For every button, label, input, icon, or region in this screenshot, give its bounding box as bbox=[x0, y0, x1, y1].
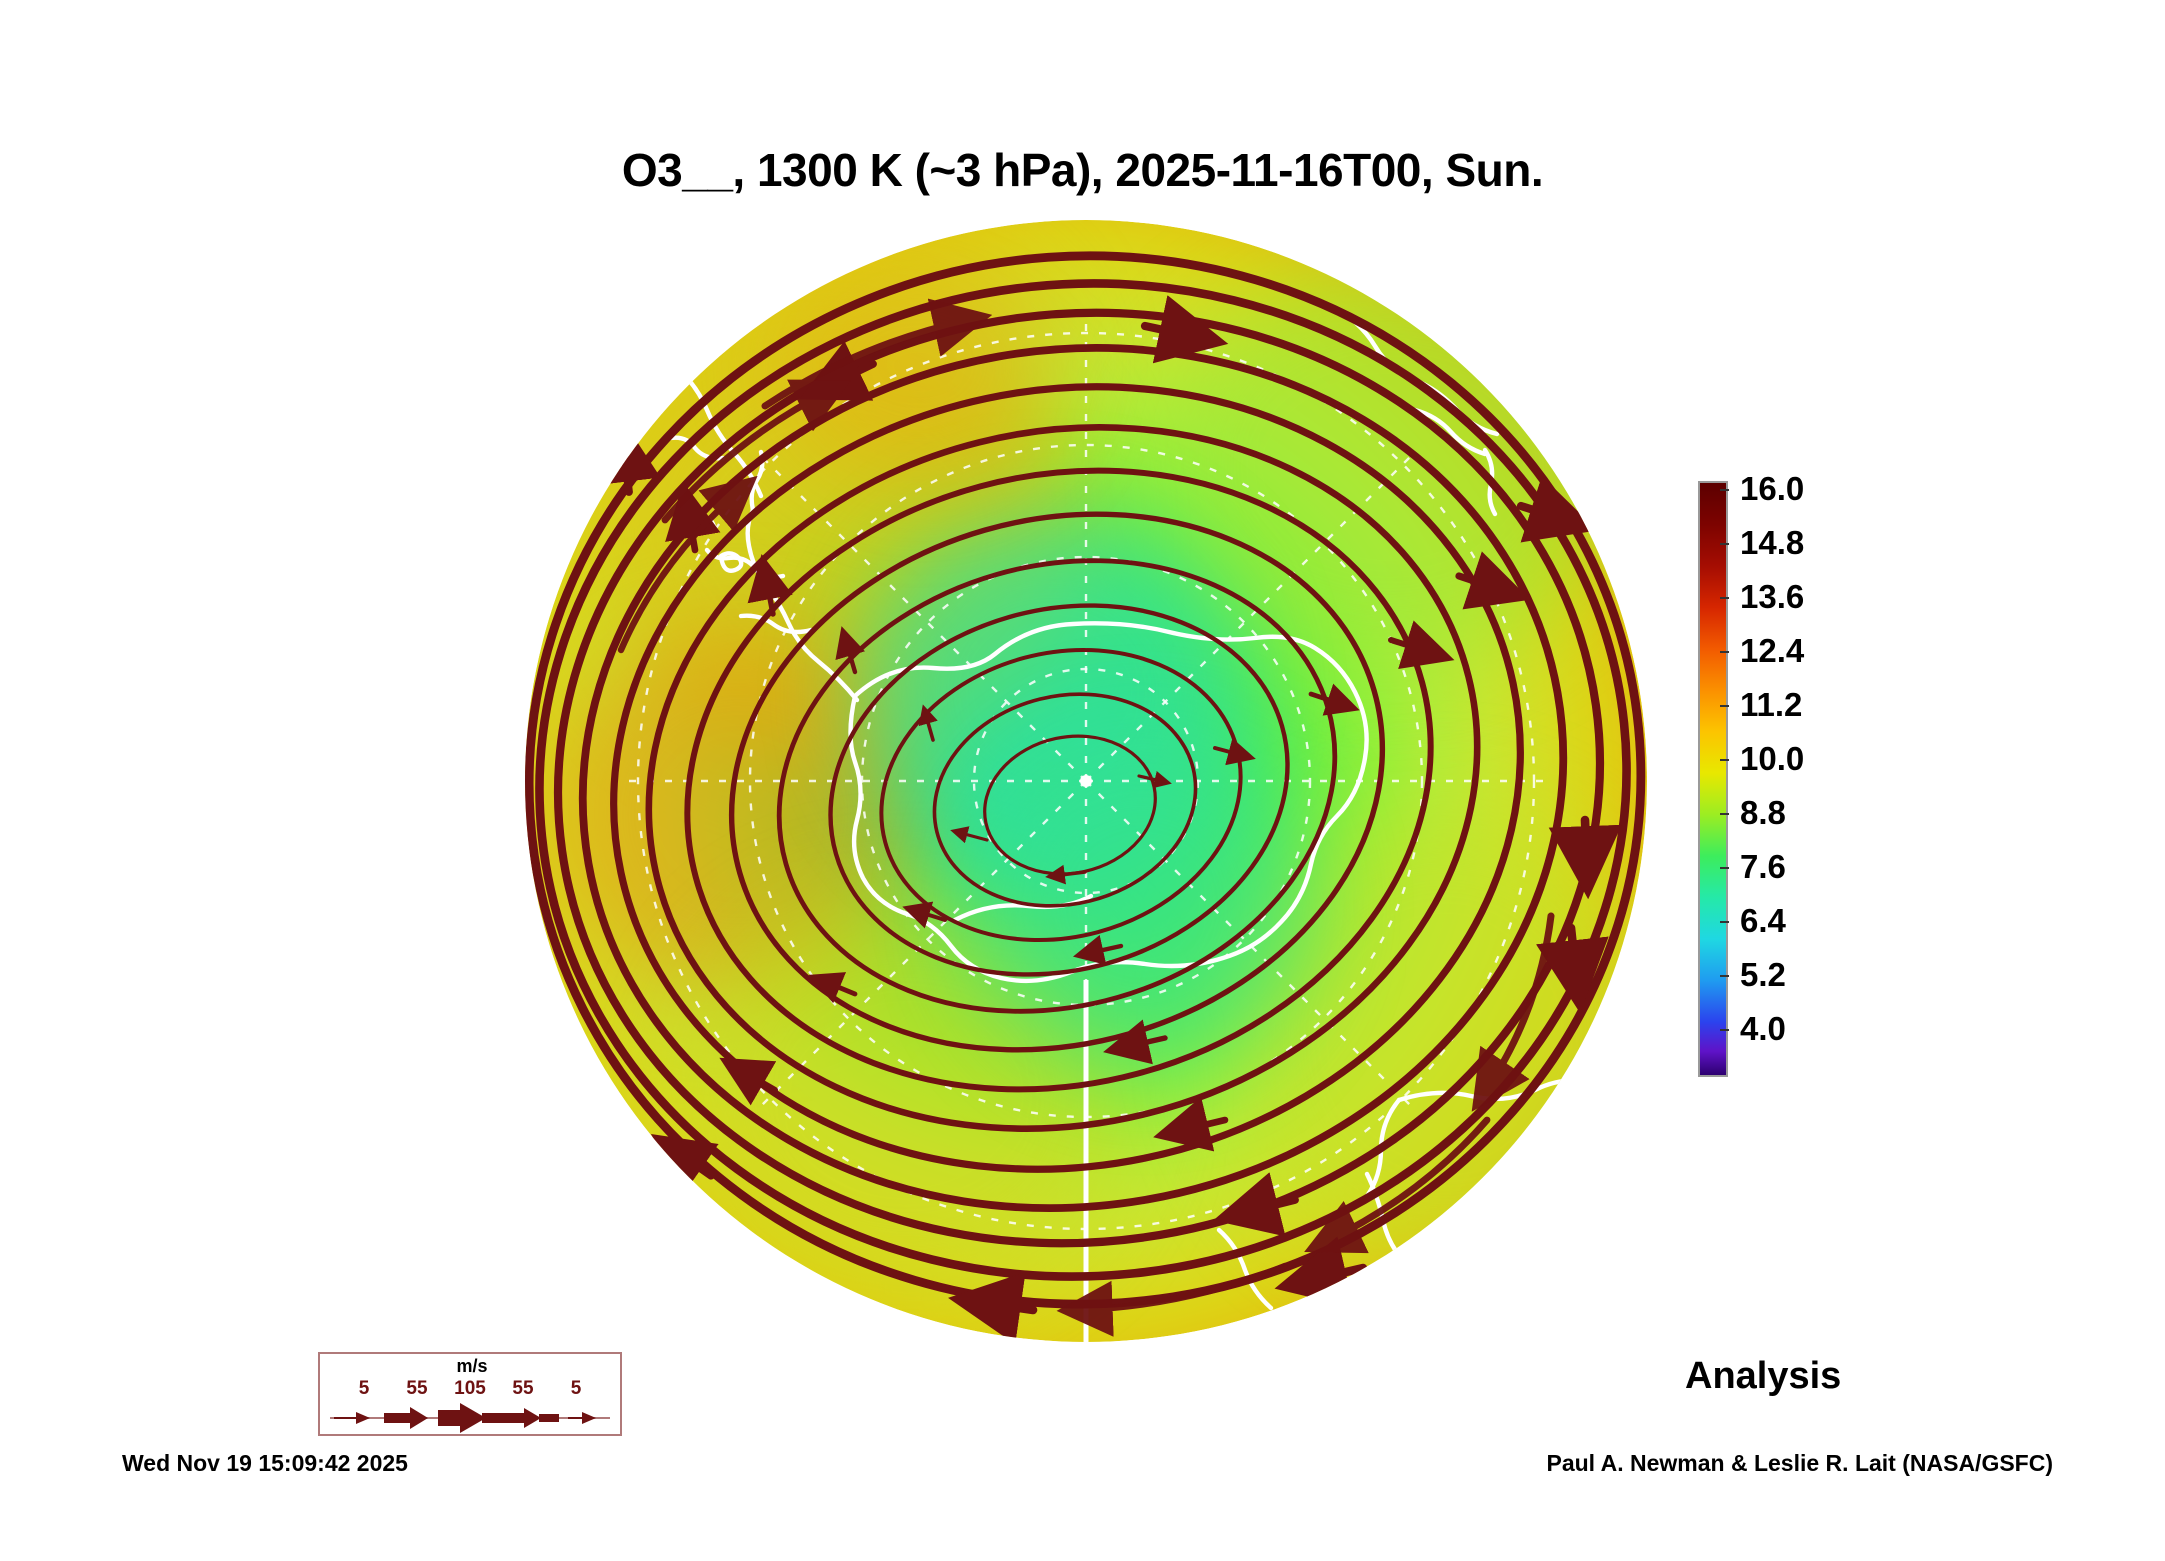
wind-speed-legend[interactable]: m/s 5 55 105 55 5 bbox=[318, 1352, 622, 1436]
colorbar-label: 5.2 bbox=[1740, 956, 1786, 994]
colorbar-tick bbox=[1720, 867, 1729, 869]
colorbar-label: 13.6 bbox=[1740, 578, 1804, 616]
colorbar[interactable]: 16.0 14.8 13.6 12.4 11.2 10.0 8.8 7.6 6.… bbox=[1698, 481, 1998, 1081]
wind-legend-tick: 105 bbox=[454, 1378, 486, 1400]
wind-legend-unit-label: m/s bbox=[320, 1356, 624, 1377]
colorbar-tick bbox=[1720, 921, 1729, 923]
wind-legend-tick: 5 bbox=[359, 1378, 370, 1400]
colorbar-label: 12.4 bbox=[1740, 632, 1804, 670]
wind-legend-tick: 55 bbox=[512, 1378, 533, 1400]
colorbar-tick bbox=[1720, 759, 1729, 761]
colorbar-tick bbox=[1720, 651, 1729, 653]
colorbar-label: 16.0 bbox=[1740, 470, 1804, 508]
wind-legend-arrow-scale bbox=[320, 1402, 620, 1434]
colorbar-tick bbox=[1720, 705, 1729, 707]
colorbar-tick bbox=[1720, 489, 1729, 491]
colorbar-label: 14.8 bbox=[1740, 524, 1804, 562]
wind-streamlines bbox=[525, 220, 1647, 1342]
colorbar-label: 6.4 bbox=[1740, 902, 1786, 940]
colorbar-label: 4.0 bbox=[1740, 1010, 1786, 1048]
wind-legend-tick: 5 bbox=[571, 1378, 582, 1400]
colorbar-tick bbox=[1720, 543, 1729, 545]
page-title: O3__, 1300 K (~3 hPa), 2025-11-16T00, Su… bbox=[0, 143, 2165, 197]
colorbar-label: 8.8 bbox=[1740, 794, 1786, 832]
colorbar-tick bbox=[1720, 975, 1729, 977]
author-credits: Paul A. Newman & Leslie R. Lait (NASA/GS… bbox=[1546, 1450, 2053, 1477]
colorbar-label: 7.6 bbox=[1740, 848, 1786, 886]
globe-disc bbox=[525, 220, 1647, 1342]
colorbar-gradient bbox=[1698, 481, 1728, 1077]
colorbar-label: 11.2 bbox=[1740, 686, 1802, 724]
analysis-label: Analysis bbox=[1685, 1355, 1841, 1398]
colorbar-tick bbox=[1720, 1029, 1729, 1031]
colorbar-tick bbox=[1720, 813, 1729, 815]
wind-legend-tick: 55 bbox=[406, 1378, 427, 1400]
colorbar-tick bbox=[1720, 597, 1729, 599]
colorbar-label: 10.0 bbox=[1740, 740, 1804, 778]
polar-map[interactable] bbox=[525, 220, 1647, 1342]
generation-timestamp: Wed Nov 19 15:09:42 2025 bbox=[122, 1450, 408, 1477]
